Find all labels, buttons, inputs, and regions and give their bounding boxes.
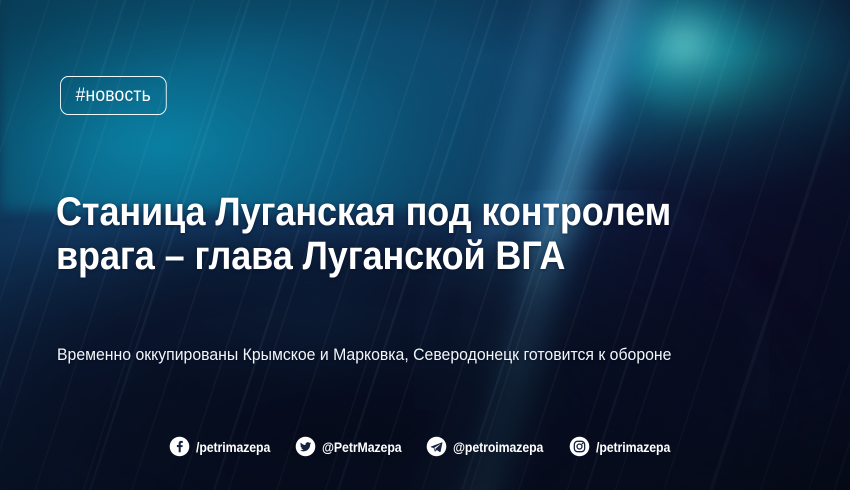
social-link-instagram[interactable]: /petrimazepa (569, 436, 680, 457)
subtitle-text: Временно оккупированы Крымское и Марковк… (57, 344, 782, 366)
facebook-icon (169, 436, 190, 457)
social-link-telegram[interactable]: @petroimazepa (426, 436, 556, 457)
social-link-facebook[interactable]: /petrimazepa (169, 436, 280, 457)
social-link-twitter[interactable]: @PetrMazepa (295, 436, 412, 457)
social-handle-telegram: @petroimazepa (453, 439, 543, 455)
telegram-icon (426, 436, 447, 457)
social-handle-instagram: /petrimazepa (596, 439, 670, 455)
category-badge[interactable]: #новость (60, 76, 167, 115)
twitter-icon (295, 436, 316, 457)
news-card: #новость Станица Луганская под контролем… (0, 0, 850, 490)
card-content: #новость Станица Луганская под контролем… (0, 0, 850, 490)
page-title: Станица Луганская под контролем врага – … (56, 190, 740, 278)
social-links-bar: /petrimazepa @PetrMazepa @petroimazepa (0, 436, 850, 457)
instagram-icon (569, 436, 590, 457)
social-handle-facebook: /petrimazepa (196, 439, 270, 455)
social-handle-twitter: @PetrMazepa (322, 439, 402, 455)
